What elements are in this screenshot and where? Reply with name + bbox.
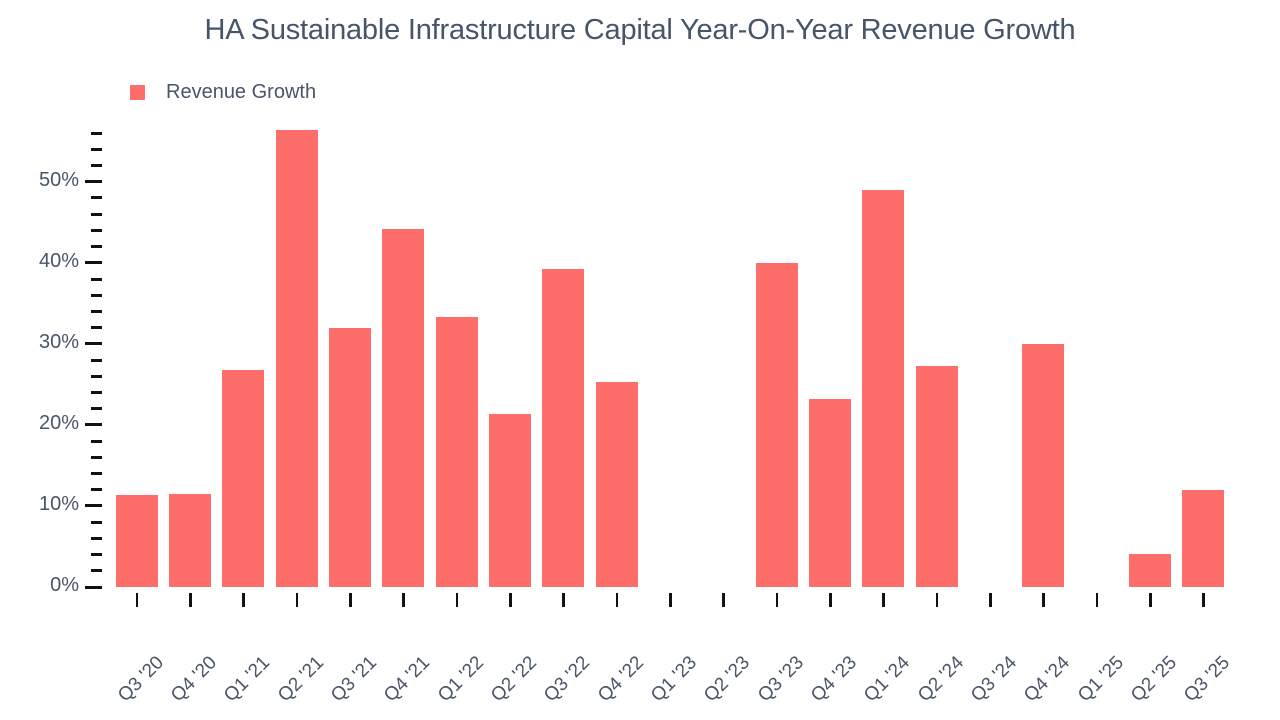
tick-mark bbox=[91, 359, 102, 362]
tick-mark bbox=[722, 593, 725, 607]
tick-mark bbox=[85, 342, 102, 345]
bar[interactable] bbox=[596, 382, 638, 587]
bar-slot[interactable] bbox=[1017, 125, 1070, 587]
tick-mark bbox=[669, 593, 672, 607]
bar-slot[interactable] bbox=[537, 125, 590, 587]
bar[interactable] bbox=[436, 317, 478, 587]
x-axis: Q3 '20Q4 '20Q1 '21Q2 '21Q3 '21Q4 '21Q1 '… bbox=[110, 587, 1230, 720]
tick-mark bbox=[136, 593, 139, 607]
bar[interactable] bbox=[809, 399, 851, 587]
x-axis-tick-label: Q2 '24 bbox=[914, 652, 969, 707]
tick-mark bbox=[91, 326, 102, 329]
tick-mark bbox=[296, 593, 299, 607]
tick-mark bbox=[776, 593, 779, 607]
tick-mark bbox=[91, 148, 102, 151]
tick-mark bbox=[91, 229, 102, 232]
y-axis-tick-label: 40% bbox=[39, 250, 79, 273]
bar-slot[interactable] bbox=[163, 125, 216, 587]
x-axis-tick-label: Q2 '21 bbox=[274, 652, 329, 707]
x-axis-tick-label: Q2 '22 bbox=[487, 652, 542, 707]
bar-slot[interactable] bbox=[110, 125, 163, 587]
tick-mark bbox=[402, 593, 405, 607]
bar-slot[interactable] bbox=[750, 125, 803, 587]
x-axis-tick-label: Q3 '21 bbox=[327, 652, 382, 707]
tick-mark bbox=[91, 456, 102, 459]
bar-slot[interactable] bbox=[963, 125, 1016, 587]
tick-mark bbox=[91, 553, 102, 556]
tick-mark bbox=[91, 132, 102, 135]
y-axis-tick-label: 50% bbox=[39, 169, 79, 192]
tick-mark bbox=[91, 310, 102, 313]
y-axis-tick-label: 30% bbox=[39, 331, 79, 354]
bar-slot[interactable] bbox=[857, 125, 910, 587]
tick-mark bbox=[91, 196, 102, 199]
square-swatch-icon bbox=[130, 85, 145, 100]
bar-slot[interactable] bbox=[910, 125, 963, 587]
bar-slot[interactable] bbox=[590, 125, 643, 587]
tick-mark bbox=[91, 440, 102, 443]
tick-mark bbox=[1202, 593, 1205, 607]
bar-slot[interactable] bbox=[697, 125, 750, 587]
page-title: HA Sustainable Infrastructure Capital Ye… bbox=[0, 8, 1280, 52]
bar[interactable] bbox=[116, 495, 158, 587]
y-axis-tick-label: 0% bbox=[50, 574, 79, 597]
tick-mark bbox=[91, 213, 102, 216]
tick-mark bbox=[456, 593, 459, 607]
bar-slot[interactable] bbox=[217, 125, 270, 587]
tick-mark bbox=[882, 593, 885, 607]
tick-mark bbox=[91, 472, 102, 475]
x-axis-tick-label: Q3 '23 bbox=[754, 652, 809, 707]
tick-mark bbox=[509, 593, 512, 607]
bar[interactable] bbox=[169, 494, 211, 587]
bar-slot[interactable] bbox=[430, 125, 483, 587]
x-axis-tick-label: Q2 '23 bbox=[700, 652, 755, 707]
x-axis-tick-label: Q4 '21 bbox=[380, 652, 435, 707]
tick-mark bbox=[91, 278, 102, 281]
bar[interactable] bbox=[329, 328, 371, 587]
tick-mark bbox=[91, 569, 102, 572]
bar[interactable] bbox=[756, 263, 798, 587]
bar-series bbox=[110, 125, 1230, 587]
x-axis-tick-label: Q4 '22 bbox=[594, 652, 649, 707]
tick-mark bbox=[1096, 593, 1099, 607]
y-axis-tick-label: 20% bbox=[39, 412, 79, 435]
bar-slot[interactable] bbox=[483, 125, 536, 587]
tick-mark bbox=[91, 407, 102, 410]
tick-mark bbox=[1149, 593, 1152, 607]
x-axis-tick-label: Q1 '24 bbox=[860, 652, 915, 707]
bar-slot[interactable] bbox=[1123, 125, 1176, 587]
tick-mark bbox=[91, 391, 102, 394]
x-axis-tick-label: Q1 '22 bbox=[434, 652, 489, 707]
tick-mark bbox=[91, 375, 102, 378]
x-axis-tick-label: Q1 '25 bbox=[1074, 652, 1129, 707]
x-axis-tick-label: Q3 '24 bbox=[967, 652, 1022, 707]
x-axis-tick-label: Q4 '20 bbox=[167, 652, 222, 707]
tick-mark bbox=[616, 593, 619, 607]
bar[interactable] bbox=[916, 366, 958, 587]
chart-legend: Revenue Growth bbox=[130, 79, 316, 105]
tick-mark bbox=[85, 423, 102, 426]
bar-slot[interactable] bbox=[643, 125, 696, 587]
bar-slot[interactable] bbox=[377, 125, 430, 587]
bar[interactable] bbox=[382, 229, 424, 587]
plot-area bbox=[110, 125, 1230, 587]
bar[interactable] bbox=[1022, 344, 1064, 587]
tick-mark bbox=[91, 488, 102, 491]
x-axis-tick-label: Q3 '22 bbox=[540, 652, 595, 707]
legend-item-label: Revenue Growth bbox=[166, 81, 316, 104]
bar-slot[interactable] bbox=[1070, 125, 1123, 587]
tick-mark bbox=[91, 537, 102, 540]
x-axis-tick-label: Q1 '23 bbox=[647, 652, 702, 707]
bar[interactable] bbox=[489, 414, 531, 587]
bar-slot[interactable] bbox=[1177, 125, 1230, 587]
tick-mark bbox=[91, 521, 102, 524]
tick-mark bbox=[91, 164, 102, 167]
tick-mark bbox=[85, 180, 102, 183]
tick-mark bbox=[989, 593, 992, 607]
x-axis-tick-label: Q4 '23 bbox=[807, 652, 862, 707]
tick-mark bbox=[85, 586, 102, 589]
tick-mark bbox=[242, 593, 245, 607]
chart-root: HA Sustainable Infrastructure Capital Ye… bbox=[0, 0, 1280, 720]
tick-mark bbox=[1042, 593, 1045, 607]
x-axis-tick-label: Q2 '25 bbox=[1127, 652, 1182, 707]
bar-slot[interactable] bbox=[323, 125, 376, 587]
x-axis-tick-label: Q3 '25 bbox=[1180, 652, 1235, 707]
tick-mark bbox=[562, 593, 565, 607]
bar[interactable] bbox=[862, 190, 904, 587]
tick-mark bbox=[936, 593, 939, 607]
x-axis-tick-label: Q1 '21 bbox=[220, 652, 275, 707]
tick-mark bbox=[91, 245, 102, 248]
y-axis: 0%10%20%30%40%50% bbox=[0, 125, 110, 587]
x-axis-tick-label: Q4 '24 bbox=[1020, 652, 1075, 707]
bar[interactable] bbox=[1182, 490, 1224, 587]
y-axis-tick-label: 10% bbox=[39, 493, 79, 516]
bar[interactable] bbox=[276, 130, 318, 587]
tick-mark bbox=[829, 593, 832, 607]
x-axis-tick-label: Q3 '20 bbox=[114, 652, 169, 707]
bar[interactable] bbox=[542, 269, 584, 587]
bar[interactable] bbox=[222, 370, 264, 587]
bar-slot[interactable] bbox=[270, 125, 323, 587]
bar-slot[interactable] bbox=[803, 125, 856, 587]
tick-mark bbox=[189, 593, 192, 607]
tick-mark bbox=[349, 593, 352, 607]
tick-mark bbox=[91, 294, 102, 297]
bar[interactable] bbox=[1129, 554, 1171, 587]
tick-mark bbox=[85, 504, 102, 507]
tick-mark bbox=[85, 261, 102, 264]
